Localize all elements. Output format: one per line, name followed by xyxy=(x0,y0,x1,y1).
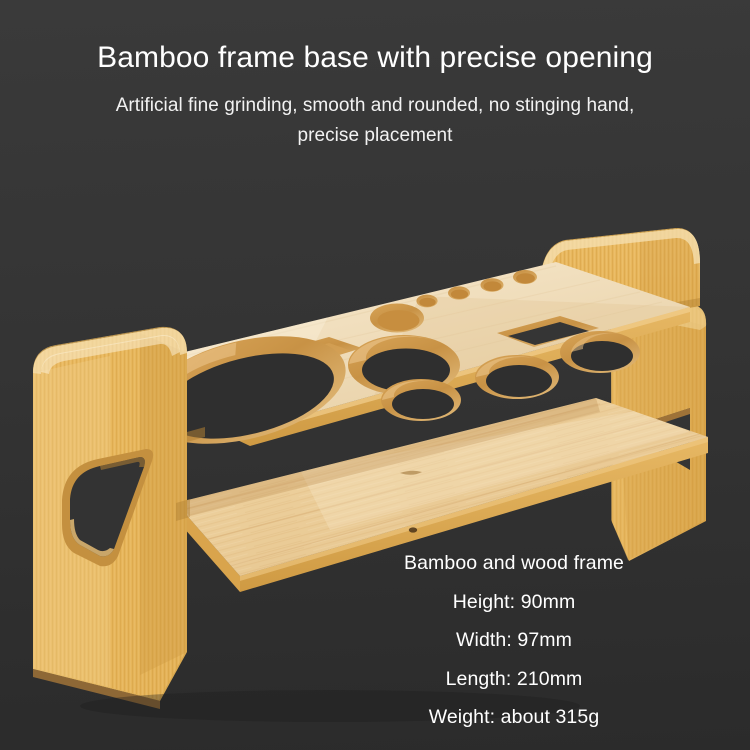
medium-hole-lower-left xyxy=(381,379,461,421)
medium-hole-right xyxy=(560,331,640,373)
small-hole-4 xyxy=(513,270,537,284)
spec-width: Width: 97mm xyxy=(304,631,724,651)
medium-hole-lower-right xyxy=(475,355,559,399)
subtitle-line-2: precise placement xyxy=(0,121,750,152)
spec-material: Bamboo and wood frame xyxy=(304,554,724,574)
small-hole-2 xyxy=(448,286,470,299)
spec-height: Height: 90mm xyxy=(304,593,724,613)
spec-list: Bamboo and wood frame Height: 90mm Width… xyxy=(304,554,724,728)
small-hole-1 xyxy=(416,295,437,308)
header-block: Bamboo frame base with precise opening A… xyxy=(0,0,750,152)
subtitle-line-1: Artificial fine grinding, smooth and rou… xyxy=(0,91,750,122)
page-subtitle: Artificial fine grinding, smooth and rou… xyxy=(0,74,750,153)
small-hole-3 xyxy=(481,278,504,292)
spec-weight: Weight: about 315g xyxy=(304,708,724,728)
spec-length: Length: 210mm xyxy=(304,670,724,690)
product-image-canvas: Bamboo frame base with precise opening A… xyxy=(0,0,750,750)
medium-hole-upper xyxy=(370,304,424,333)
bottom-shelf-screw-hole xyxy=(409,527,417,532)
left-end-panel xyxy=(20,320,205,720)
page-title: Bamboo frame base with precise opening xyxy=(0,0,750,74)
